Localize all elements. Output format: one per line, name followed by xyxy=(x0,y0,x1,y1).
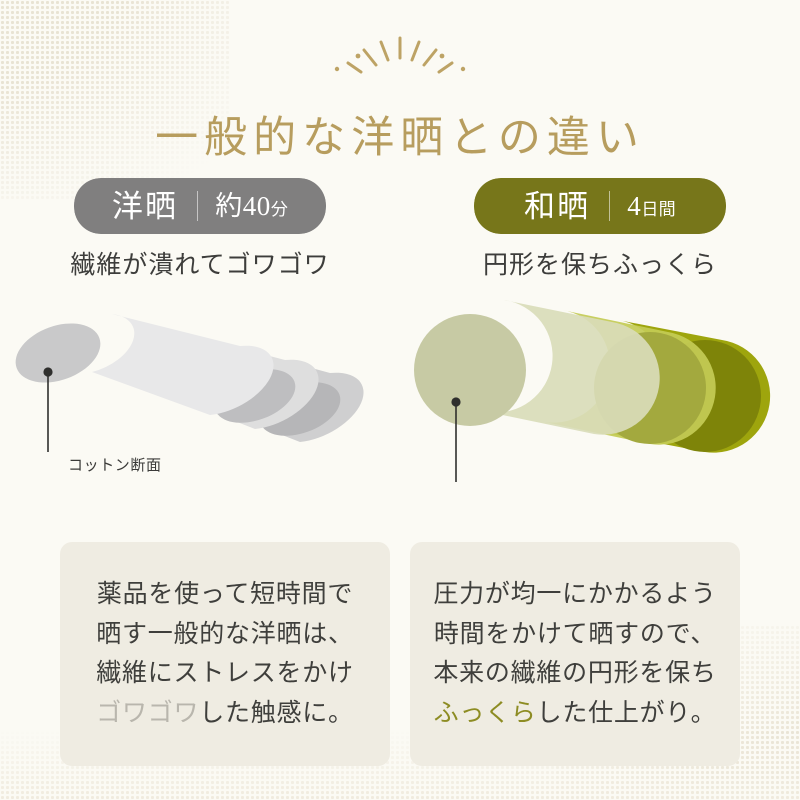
caption-yozarashi: 繊維が潰れてゴワゴワ xyxy=(70,253,329,278)
badge-separator xyxy=(197,191,198,221)
badge-label-wazarashi: 和晒 xyxy=(524,191,592,222)
highlight-text: ふっくら xyxy=(434,700,537,727)
corner-texture-top-left xyxy=(0,0,230,200)
card-line-highlight: ふっくらした仕上がり。 xyxy=(434,694,717,734)
card-line: 繊維にストレスをかけ xyxy=(96,654,354,694)
badge-duration-wazarashi: 4日間 xyxy=(627,193,676,220)
column-yozarashi: 洋晒 約40分 繊維が潰れてゴワゴワ xyxy=(0,178,400,532)
column-wazarashi: 和晒 4日間 円形を保ちふっくら xyxy=(400,178,800,532)
highlight-rest: した仕上がり。 xyxy=(537,700,717,727)
badge-separator xyxy=(609,191,610,221)
fiber-cross-section-1 xyxy=(414,314,526,426)
comparison-columns: 洋晒 約40分 繊維が潰れてゴワゴワ xyxy=(0,178,800,532)
page-title: 一般的な洋晒との違い xyxy=(0,117,800,160)
description-cards: 薬品を使って短時間で 晒す一般的な洋晒は、 繊維にストレスをかけ ゴワゴワした触… xyxy=(0,542,800,766)
annotation-dot xyxy=(451,397,460,406)
description-card-yozarashi: 薬品を使って短時間で 晒す一般的な洋晒は、 繊維にストレスをかけ ゴワゴワした触… xyxy=(60,542,390,766)
badge-duration-unit: 日間 xyxy=(641,200,676,219)
badge-wazarashi: 和晒 4日間 xyxy=(474,178,726,234)
card-line: 晒す一般的な洋晒は、 xyxy=(96,615,354,655)
badge-duration-value: 4 xyxy=(627,191,641,221)
description-card-wazarashi: 圧力が均一にかかるよう 時間をかけて晒すので、 本来の繊維の円形を保ち ふっくら… xyxy=(410,542,740,766)
badge-duration-unit: 分 xyxy=(271,200,288,219)
sunburst-icon xyxy=(320,32,480,85)
highlight-text: ゴワゴワ xyxy=(96,700,199,727)
fiber-cross-section-1 xyxy=(7,313,108,394)
flattened-fiber-shapes xyxy=(0,292,400,532)
card-line: 本来の繊維の円形を保ち xyxy=(433,654,716,694)
card-line: 薬品を使って短時間で xyxy=(97,575,353,615)
annotation-dot xyxy=(43,367,52,376)
card-line: 時間をかけて晒すので、 xyxy=(434,615,716,655)
badge-duration-value: 約40 xyxy=(215,191,271,221)
illustration-wazarashi: コットン断面 xyxy=(400,292,800,532)
illustration-yozarashi: コットン断面 xyxy=(0,292,400,532)
card-line-highlight: ゴワゴワした触感に。 xyxy=(96,694,354,734)
fiber-shape-1 xyxy=(414,300,660,435)
highlight-rest: した触感に。 xyxy=(199,700,354,727)
infographic-page: 一般的な洋晒との違い 洋晒 約40分 繊維が潰れてゴワゴワ xyxy=(0,0,800,800)
badge-label-yozarashi: 洋晒 xyxy=(112,191,180,222)
round-fiber-shapes xyxy=(400,292,800,532)
annotation-label-yozarashi: コットン断面 xyxy=(68,459,162,474)
caption-wazarashi: 円形を保ちふっくら xyxy=(483,253,717,278)
badge-yozarashi: 洋晒 約40分 xyxy=(74,178,326,234)
badge-duration-yozarashi: 約40分 xyxy=(215,193,288,220)
card-line: 圧力が均一にかかるよう xyxy=(433,575,716,615)
